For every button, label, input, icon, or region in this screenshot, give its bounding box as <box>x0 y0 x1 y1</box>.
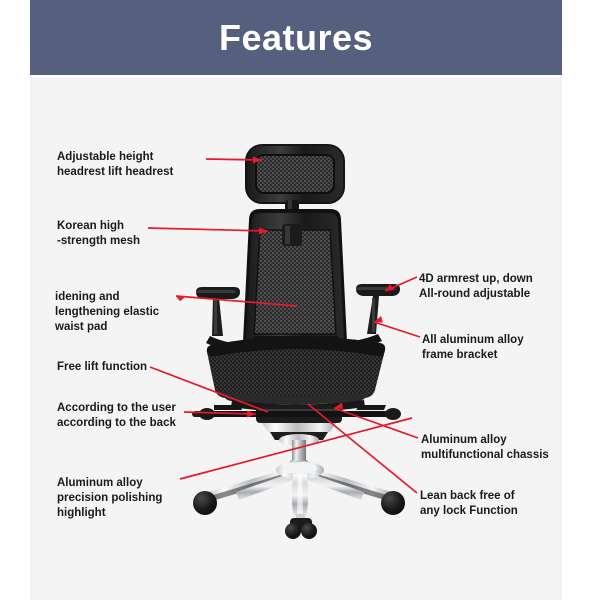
chair-backrest <box>243 209 347 354</box>
annotation-label-mesh: Korean high -strength mesh <box>57 219 140 249</box>
annotation-label-chassis: Aluminum alloy multifunctional chassis <box>421 433 549 463</box>
annotation-label-armrest: 4D armrest up, down All-round adjustable <box>419 272 533 302</box>
annotation-label-recline-user: According to the user according to the b… <box>57 401 176 431</box>
annotation-label-free-lift: Free lift function <box>57 360 147 375</box>
caster-wheel-left <box>193 491 217 515</box>
chair-seat <box>207 336 385 404</box>
product-feature-image: Features <box>0 0 600 600</box>
chair-headrest <box>245 144 345 218</box>
annotation-label-lean-back: Lean back free of any lock Function <box>420 489 518 519</box>
annotation-label-waist-pad: idening and lengthening elastic waist pa… <box>55 290 159 336</box>
caster-wheel-front <box>285 518 317 539</box>
annotation-label-headrest: Adjustable height headrest lift headrest <box>57 150 173 180</box>
chair-chassis <box>192 400 401 446</box>
annotation-label-polishing: Aluminum alloy precision polishing highl… <box>57 476 162 522</box>
caster-wheel-right <box>381 491 405 515</box>
chair-aluminum-base <box>193 461 405 539</box>
annotation-label-frame-bracket: All aluminum alloy frame bracket <box>422 333 524 363</box>
